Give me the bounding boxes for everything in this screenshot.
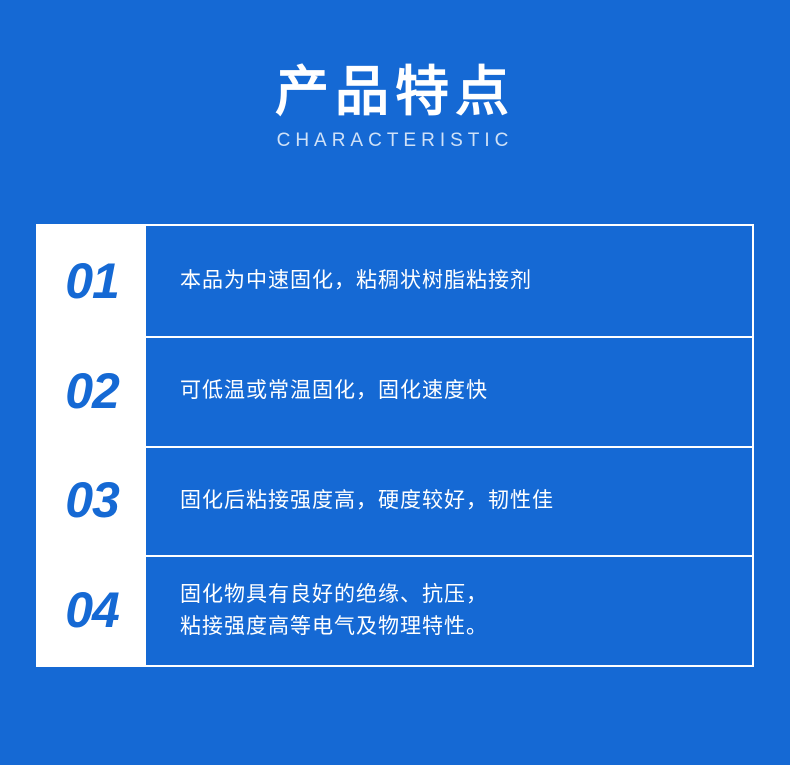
feature-text: 固化后粘接强度高，硬度较好，韧性佳 <box>180 485 554 518</box>
page-subtitle: CHARACTERISTIC <box>0 130 790 152</box>
feature-number: 02 <box>65 366 119 416</box>
product-characteristic-page: 产品特点 CHARACTERISTIC 01 本品为中速固化，粘稠状树脂粘接剂 … <box>0 0 790 765</box>
feature-number: 03 <box>65 475 119 525</box>
feature-text-cell: 本品为中速固化，粘稠状树脂粘接剂 <box>146 226 752 336</box>
feature-number: 01 <box>65 256 119 306</box>
feature-number-cell: 01 <box>38 226 146 336</box>
feature-text: 可低温或常温固化，固化速度快 <box>180 375 488 408</box>
list-item: 02 可低温或常温固化，固化速度快 <box>38 336 752 446</box>
page-title: 产品特点 <box>0 62 790 122</box>
list-item: 01 本品为中速固化，粘稠状树脂粘接剂 <box>38 226 752 336</box>
feature-number: 04 <box>65 585 119 635</box>
list-item: 03 固化后粘接强度高，硬度较好，韧性佳 <box>38 446 752 556</box>
features-list: 01 本品为中速固化，粘稠状树脂粘接剂 02 可低温或常温固化，固化速度快 03 <box>38 226 752 665</box>
feature-text: 固化物具有良好的绝缘、抗压， 粘接强度高等电气及物理特性。 <box>180 579 488 644</box>
feature-number-cell: 02 <box>38 336 146 446</box>
page-header: 产品特点 CHARACTERISTIC <box>0 0 790 152</box>
feature-text-cell: 可低温或常温固化，固化速度快 <box>146 336 752 446</box>
feature-text-cell: 固化物具有良好的绝缘、抗压， 粘接强度高等电气及物理特性。 <box>146 555 752 665</box>
feature-number-cell: 03 <box>38 446 146 556</box>
feature-text: 本品为中速固化，粘稠状树脂粘接剂 <box>180 265 532 298</box>
features-panel: 01 本品为中速固化，粘稠状树脂粘接剂 02 可低温或常温固化，固化速度快 03 <box>36 224 754 667</box>
list-item: 04 固化物具有良好的绝缘、抗压， 粘接强度高等电气及物理特性。 <box>38 555 752 665</box>
feature-number-cell: 04 <box>38 555 146 665</box>
feature-text-cell: 固化后粘接强度高，硬度较好，韧性佳 <box>146 446 752 556</box>
